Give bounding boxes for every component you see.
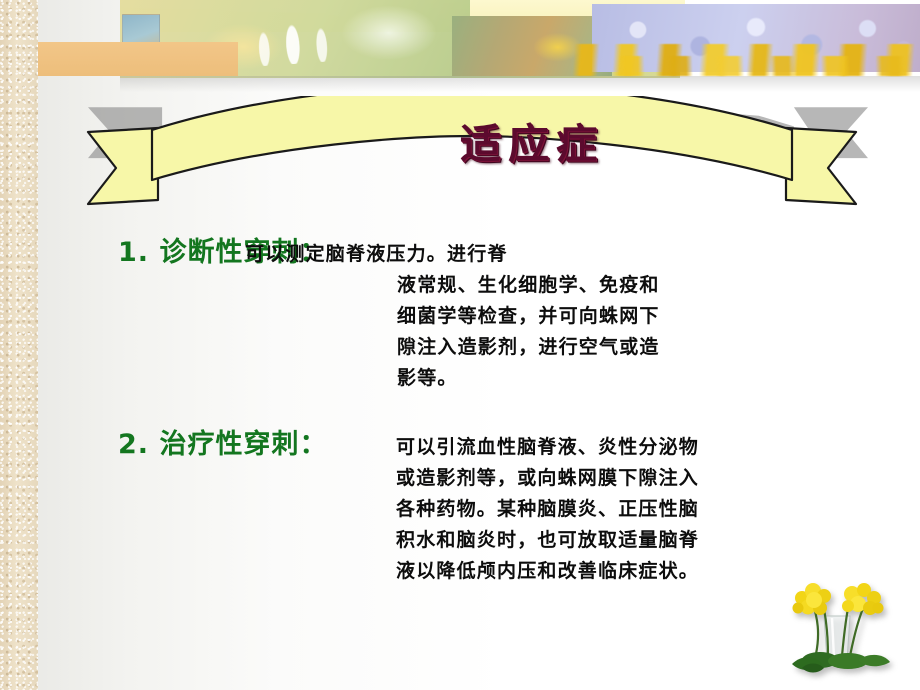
item-2-line-1: 可以引流血性脑脊液、炎性分泌物 <box>396 432 699 463</box>
title-ribbon-banner: 适应症 <box>82 96 868 211</box>
item-1-body: 可以测定脑脊液压力。进行脊 液常规、生化细胞学、免疫和 细菌学等检查，并可向蛛网… <box>245 239 660 394</box>
page-title: 适应症 <box>142 110 920 170</box>
item-1-line-2: 液常规、生化细胞学、免疫和 <box>245 270 660 301</box>
item-1-line-3: 细菌学等检查，并可向蛛网下 <box>245 301 660 332</box>
item-2-line-4: 积水和脑炎时，也可放取适量脑脊 <box>396 525 699 556</box>
item-2-heading-text: 治疗性穿刺： <box>159 429 327 460</box>
item-2-line-2: 或造影剂等，或向蛛网膜下隙注入 <box>396 463 699 494</box>
item-2-line-3: 各种药物。某种脑膜炎、正压性脑 <box>396 494 699 525</box>
left-texture-strip <box>0 0 38 690</box>
flower-arrangement-image <box>772 568 902 676</box>
item-1-number: 1. <box>118 237 149 268</box>
presentation-slide: 适应症 1. 诊断性穿刺： 可以测定脑脊液压力。进行脊 液常规、生化细胞学、免疫… <box>0 0 920 690</box>
header-wheat-spray-back <box>600 56 920 76</box>
header-orange-band <box>38 42 238 76</box>
item-2-line-5: 液以降低颅内压和改善临床症状。 <box>396 556 699 587</box>
item-1-line-4: 隙注入造影剂，进行空气或造 <box>245 332 660 363</box>
header-band-shadow <box>120 76 920 92</box>
item-2-heading: 2. 治疗性穿刺： <box>118 422 327 461</box>
header-leaf-silhouette-icon <box>230 0 354 68</box>
item-1-line-5: 影等。 <box>245 363 660 394</box>
item-2-number: 2. <box>118 429 149 460</box>
item-1-line-1: 可以测定脑脊液压力。进行脊 <box>245 239 660 270</box>
item-2-body: 可以引流血性脑脊液、炎性分泌物 或造影剂等，或向蛛网膜下隙注入 各种药物。某种脑… <box>396 432 699 587</box>
